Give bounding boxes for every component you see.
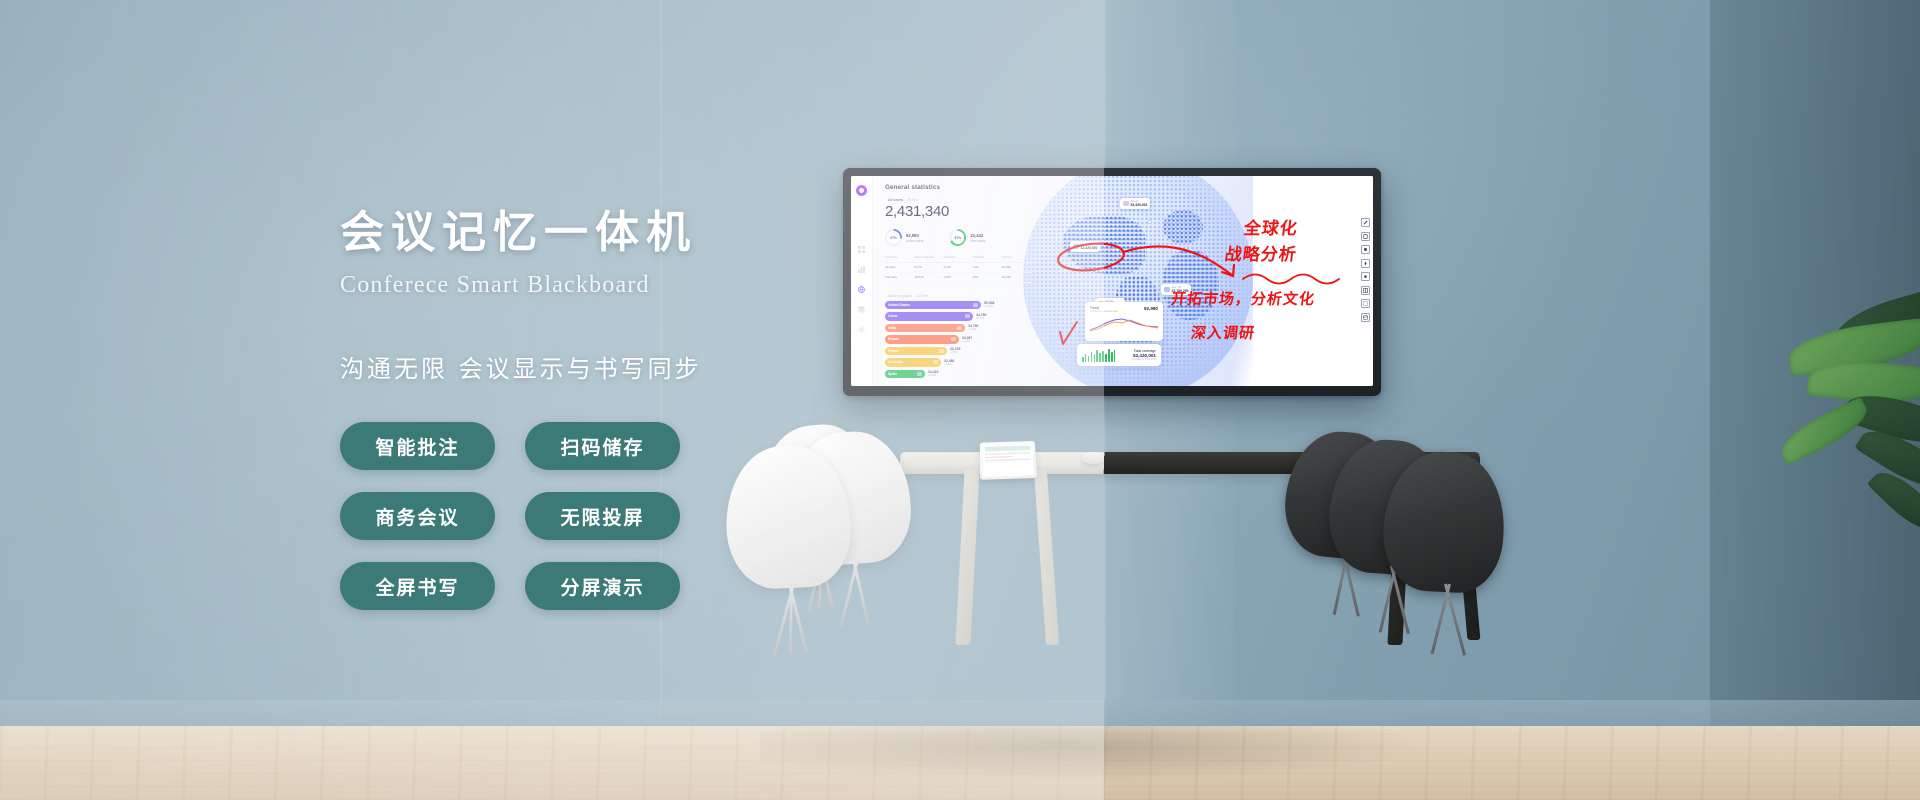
eraser-icon[interactable] xyxy=(1361,272,1370,281)
hero-tagline: 沟通无限 会议显示与书写同步 xyxy=(340,349,960,384)
flag-icon xyxy=(973,303,978,307)
card-subtitle: Compared to 12% last year xyxy=(1090,311,1118,313)
bar-chart xyxy=(1082,348,1115,362)
all-users-label: All users 2019 ▾ xyxy=(885,198,1035,202)
desk-speaker-puck xyxy=(1082,452,1104,464)
marker-label: Los Angeles 12,320,500 xyxy=(1081,243,1098,250)
page-title: 会议记忆一体机 xyxy=(340,205,960,260)
page-subtitle: Conferece Smart Blackboard xyxy=(340,272,960,299)
country-delta: +9,213 xyxy=(976,317,986,320)
panel-heading: General statistics xyxy=(885,184,1035,191)
whiteboard-toolbar[interactable] xyxy=(1361,218,1370,322)
shape-icon[interactable] xyxy=(1361,232,1370,241)
country-delta: +11,030 xyxy=(984,305,994,308)
map-marker-tooltip[interactable]: Los Angeles 12,320,500 xyxy=(1070,241,1100,252)
feature-button-fullscreen-write[interactable]: 全屏书写 xyxy=(340,562,495,610)
marker-swatch-icon xyxy=(1073,244,1079,250)
brush-icon[interactable] xyxy=(1361,259,1370,268)
map-pin-dot[interactable] xyxy=(1148,220,1152,224)
cell: 21,320 xyxy=(1002,263,1031,273)
whiteboard-area[interactable] xyxy=(1253,176,1373,386)
card-value: 53,430,001 xyxy=(1131,353,1156,358)
potted-plant xyxy=(1736,296,1920,616)
hero-banner: Toronto 53,430,001 Los Angeles 12,320,50… xyxy=(0,0,1920,800)
column-header: TREND xyxy=(973,255,1002,263)
map-marker-tooltip[interactable]: New York 23,180,290 xyxy=(1161,284,1191,295)
save-icon[interactable] xyxy=(1361,313,1370,322)
feature-button-split-present[interactable]: 分屏演示 xyxy=(525,562,680,610)
donut-value: 22,442 xyxy=(970,233,985,238)
pen-icon[interactable] xyxy=(1361,218,1370,227)
floor-shadow xyxy=(760,726,1580,800)
tablet-screen-line xyxy=(985,456,1013,458)
card-title: Trend xyxy=(1090,306,1118,310)
tablet-screen-banner xyxy=(985,446,1031,452)
continent-europe xyxy=(1163,210,1203,244)
marker-label: New York 23,180,290 xyxy=(1172,286,1189,293)
coverage-card[interactable]: Total coverage 53,430,001 Compared to 8,… xyxy=(1077,344,1161,366)
cell: 44,310 xyxy=(1002,273,1031,283)
donut-label: New users xyxy=(970,239,985,243)
grid-icon[interactable] xyxy=(1361,286,1370,295)
feature-button-business-meeting[interactable]: 商务会议 xyxy=(340,492,495,540)
cell: 23% xyxy=(973,273,1002,283)
cell: 13% xyxy=(973,263,1002,273)
card-value: 92,980 xyxy=(1144,306,1158,311)
line-chart xyxy=(1090,316,1158,332)
flag-icon xyxy=(965,314,970,318)
color-dot-icon[interactable] xyxy=(1361,245,1370,254)
feature-button-grid: 智能批注 扫码储存 商务会议 无限投屏 全屏书写 分屏演示 xyxy=(340,422,960,610)
marker-swatch-icon xyxy=(1123,201,1129,207)
column-header: TOTAL xyxy=(1002,255,1031,263)
feature-button-smart-annotation[interactable]: 智能批注 xyxy=(340,422,495,470)
select-icon[interactable] xyxy=(1361,299,1370,308)
card-subtitle: Compared to 8,2% 2019 xyxy=(1131,359,1156,361)
feature-button-qr-save[interactable]: 扫码储存 xyxy=(525,422,680,470)
tablet-screen-line xyxy=(985,452,1031,455)
app-logo-icon xyxy=(856,185,867,196)
marker-swatch-icon xyxy=(1164,287,1170,293)
map-marker-tooltip[interactable]: Toronto 53,430,001 xyxy=(1120,198,1150,209)
feature-button-wireless-cast[interactable]: 无限投屏 xyxy=(525,492,680,540)
trend-card[interactable]: Trend Compared to 12% last year 92,980 xyxy=(1085,302,1163,341)
country-delta: +6,283 xyxy=(962,340,972,343)
hero-copy: 会议记忆一体机 Conferece Smart Blackboard 沟通无限 … xyxy=(340,205,960,610)
desk-tablet xyxy=(980,441,1037,480)
tablet-screen xyxy=(983,444,1034,477)
marker-label: Toronto 53,430,001 xyxy=(1131,200,1148,207)
country-delta: +7,404 xyxy=(968,328,978,331)
tablet-screen-line xyxy=(985,458,1031,461)
